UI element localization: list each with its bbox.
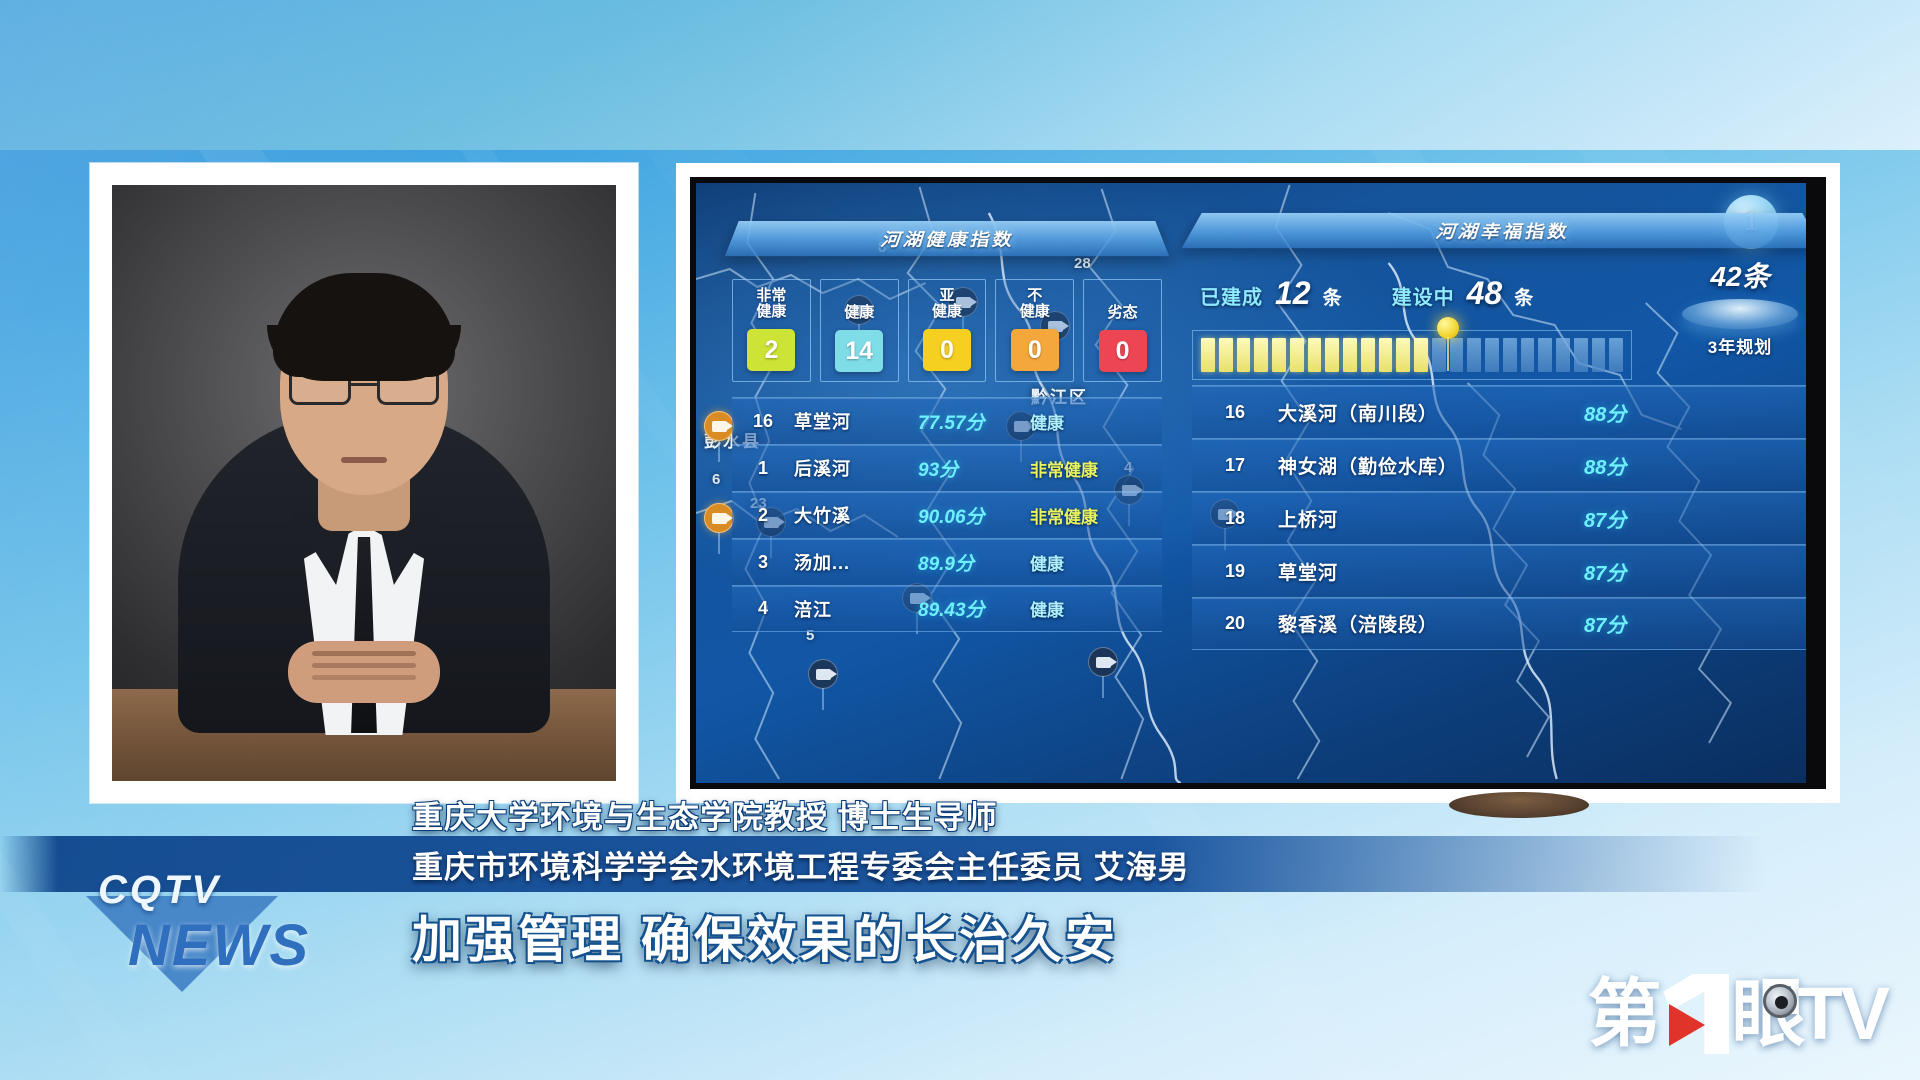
camera-pin-icon[interactable] bbox=[704, 411, 734, 441]
progress-segment bbox=[1361, 338, 1375, 372]
table-row[interactable]: 16 草堂河 77.57分 健康 bbox=[732, 397, 1162, 444]
health-card-value: 14 bbox=[835, 330, 883, 372]
row-status: 健康 bbox=[1030, 550, 1162, 575]
progress-segment bbox=[1254, 338, 1268, 372]
row-status: 健康 bbox=[1030, 596, 1162, 621]
play-triangle-icon bbox=[1669, 1004, 1705, 1046]
diyiyan-tv-watermark: 第 眼 TV bbox=[1587, 968, 1888, 1060]
monitor-bezel: 黔江区 彭水县 8 3 28 23 6 4 5 bbox=[690, 177, 1826, 789]
row-name: 黎香溪（涪陵段） bbox=[1278, 610, 1584, 637]
plan-value: 42条 bbox=[1676, 255, 1804, 295]
health-index-title: 河湖健康指数 bbox=[879, 226, 1014, 251]
row-score: 88分 bbox=[1584, 451, 1806, 480]
health-card-value: 0 bbox=[1011, 329, 1059, 371]
headline-banner: 加强管理 确保效果的长治久安 bbox=[412, 900, 1118, 972]
progress-segment bbox=[1290, 338, 1304, 372]
data-wall-screen: 黔江区 彭水县 8 3 28 23 6 4 5 bbox=[696, 183, 1806, 783]
progress-segment bbox=[1503, 338, 1517, 372]
headline-text: 加强管理 确保效果的长治久安 bbox=[412, 912, 1118, 968]
health-card-very-healthy[interactable]: 非常 健康 2 bbox=[732, 279, 811, 382]
cqtv-news-logo: CQTV NEWS bbox=[44, 850, 344, 1020]
plan-label: 3年规划 bbox=[1676, 333, 1804, 358]
monitor-frame: 黔江区 彭水县 8 3 28 23 6 4 5 bbox=[676, 163, 1840, 803]
progress-segment bbox=[1432, 338, 1446, 372]
row-score: 89.9分 bbox=[918, 549, 1030, 576]
camera-pin-icon[interactable] bbox=[808, 659, 838, 689]
row-name: 后溪河 bbox=[794, 455, 918, 481]
health-card-label: 亚 健康 bbox=[912, 288, 983, 320]
health-card-label: 不 健康 bbox=[999, 288, 1070, 320]
video-camera-icon bbox=[712, 513, 727, 524]
row-status: 非常健康 bbox=[1030, 456, 1162, 481]
credential-line-1: 重庆大学环境与生态学院教授 博士生导师 bbox=[400, 792, 998, 836]
watermark-numeral-one bbox=[1663, 974, 1729, 1054]
progress-segment bbox=[1414, 338, 1428, 372]
map-number: 6 bbox=[712, 471, 720, 488]
row-name: 草堂河 bbox=[1278, 558, 1584, 585]
health-card-unhealthy[interactable]: 不 健康 0 bbox=[995, 279, 1074, 382]
health-card-value: 0 bbox=[1099, 330, 1147, 372]
construction-progress-bar[interactable] bbox=[1192, 330, 1632, 380]
happiness-index-title: 河湖幸福指数 bbox=[1434, 218, 1569, 243]
row-score: 77.57分 bbox=[918, 408, 1030, 435]
row-rank: 16 bbox=[1192, 402, 1278, 423]
progress-segment bbox=[1538, 338, 1552, 372]
letterbox-top bbox=[0, 0, 1920, 150]
three-year-plan-badge: 42条 3年规划 bbox=[1676, 255, 1804, 358]
row-rank: 17 bbox=[1192, 455, 1278, 476]
progress-segment bbox=[1379, 338, 1393, 372]
row-name: 上桥河 bbox=[1278, 505, 1584, 532]
watermark-tv-text: TV bbox=[1797, 977, 1888, 1051]
happiness-ranking-table: 16 大溪河（南川段） 88分 17 神女湖（勤俭水库） 88分 18 上桥河 … bbox=[1192, 385, 1806, 650]
row-rank: 19 bbox=[1192, 561, 1278, 582]
progress-segment bbox=[1574, 338, 1588, 372]
progress-segment bbox=[1396, 338, 1410, 372]
table-row[interactable]: 20 黎香溪（涪陵段） 87分 bbox=[1192, 597, 1806, 650]
row-score: 89.43分 bbox=[918, 595, 1030, 622]
row-score: 93分 bbox=[918, 455, 1030, 482]
row-name: 草堂河 bbox=[794, 408, 918, 434]
camera-pin-icon[interactable] bbox=[1088, 647, 1118, 677]
video-camera-icon bbox=[1096, 657, 1111, 668]
watermark-char-di: 第 bbox=[1587, 977, 1661, 1051]
anchor-portrait-frame bbox=[90, 163, 638, 803]
row-score: 87分 bbox=[1584, 557, 1806, 586]
logo-news-text: NEWS bbox=[128, 912, 310, 979]
row-name: 大溪河（南川段） bbox=[1278, 399, 1584, 426]
progress-segment bbox=[1201, 338, 1215, 372]
happiness-index-title-bar: 河湖幸福指数 bbox=[1182, 213, 1806, 248]
progress-segment bbox=[1556, 338, 1570, 372]
video-camera-icon bbox=[712, 421, 727, 432]
built-label: 已建成 bbox=[1200, 281, 1263, 310]
progress-segment bbox=[1521, 338, 1535, 372]
building-label: 建设中 bbox=[1392, 281, 1455, 310]
anchor-portrait bbox=[112, 185, 616, 781]
health-card-value: 0 bbox=[923, 329, 971, 371]
progress-segment bbox=[1592, 338, 1606, 372]
row-rank: 4 bbox=[732, 598, 794, 619]
glasses-bridge bbox=[351, 383, 377, 386]
progress-segment bbox=[1272, 338, 1286, 372]
building-value: 48 bbox=[1467, 275, 1503, 312]
video-camera-icon bbox=[816, 669, 831, 680]
table-row[interactable]: 16 大溪河（南川段） 88分 bbox=[1192, 385, 1806, 438]
built-unit: 条 bbox=[1323, 283, 1342, 310]
health-card-degraded[interactable]: 劣态 0 bbox=[1083, 279, 1162, 382]
health-card-label: 劣态 bbox=[1087, 288, 1158, 321]
progress-segment bbox=[1237, 338, 1251, 372]
row-score: 90.06分 bbox=[918, 502, 1030, 529]
progress-segment bbox=[1219, 338, 1233, 372]
credential-line-1-text: 重庆大学环境与生态学院教授 博士生导师 bbox=[412, 792, 998, 837]
table-row[interactable]: 17 神女湖（勤俭水库） 88分 bbox=[1192, 438, 1806, 491]
progress-segment bbox=[1308, 338, 1322, 372]
building-unit: 条 bbox=[1514, 283, 1533, 310]
table-row[interactable]: 4 涪江 89.43分 健康 bbox=[732, 585, 1162, 632]
built-value: 12 bbox=[1275, 275, 1311, 312]
health-index-panel: 河湖健康指数 非常 健康 2 bbox=[732, 219, 1162, 382]
progress-segment bbox=[1325, 338, 1339, 372]
health-card-healthy[interactable]: 健康 14 bbox=[820, 279, 899, 382]
row-name: 神女湖（勤俭水库） bbox=[1278, 452, 1584, 479]
health-card-label: 健康 bbox=[824, 288, 895, 321]
row-score: 87分 bbox=[1584, 609, 1806, 638]
hair bbox=[273, 273, 455, 377]
progress-segment bbox=[1450, 338, 1464, 372]
mouth bbox=[341, 457, 387, 463]
row-name: 涪江 bbox=[794, 596, 918, 622]
health-card-label: 非常 健康 bbox=[736, 288, 807, 320]
row-rank: 3 bbox=[732, 552, 794, 573]
happiness-index-panel: 河湖幸福指数 已建成 12 条 建设中 48 条 bbox=[1192, 211, 1806, 380]
broadcast-frame: 黔江区 彭水县 8 3 28 23 6 4 5 bbox=[0, 0, 1920, 1080]
table-row[interactable]: 18 上桥河 87分 bbox=[1192, 491, 1806, 544]
health-index-title-bar: 河湖健康指数 bbox=[725, 221, 1169, 256]
row-score: 87分 bbox=[1584, 504, 1806, 533]
row-rank: 1 bbox=[732, 458, 794, 479]
progress-marker-handle[interactable] bbox=[1437, 317, 1459, 339]
row-score: 88分 bbox=[1584, 398, 1806, 427]
table-row[interactable]: 3 汤加... 89.9分 健康 bbox=[732, 538, 1162, 585]
table-row[interactable]: 19 草堂河 87分 bbox=[1192, 544, 1806, 597]
credential-line-2-text: 重庆市环境科学学会水环境工程专委会主任委员 艾海男 bbox=[412, 842, 1190, 887]
row-status: 非常健康 bbox=[1030, 503, 1162, 528]
camera-pin-icon[interactable] bbox=[704, 503, 734, 533]
row-rank: 2 bbox=[732, 505, 794, 526]
progress-segment bbox=[1609, 338, 1623, 372]
row-rank: 18 bbox=[1192, 508, 1278, 529]
progress-segment bbox=[1467, 338, 1481, 372]
hands bbox=[288, 641, 440, 703]
letterbox-top-sheen bbox=[0, 0, 1920, 150]
row-name: 大竹溪 bbox=[794, 502, 918, 528]
row-name: 汤加... bbox=[794, 549, 918, 575]
table-row[interactable]: 1 后溪河 93分 非常健康 bbox=[732, 444, 1162, 491]
health-card-value: 2 bbox=[747, 329, 795, 371]
progress-segment bbox=[1485, 338, 1499, 372]
logo-cqtv-text: CQTV bbox=[98, 868, 221, 913]
plan-disc-graphic bbox=[1682, 299, 1798, 329]
health-card-sub-healthy[interactable]: 亚 健康 0 bbox=[908, 279, 987, 382]
progress-segment bbox=[1343, 338, 1357, 372]
row-rank: 20 bbox=[1192, 613, 1278, 634]
health-ranking-table: 16 草堂河 77.57分 健康 1 后溪河 93分 非常健康 2 大竹溪 bbox=[732, 397, 1162, 632]
monitor-stand bbox=[1449, 792, 1589, 818]
row-status: 健康 bbox=[1030, 409, 1162, 434]
row-rank: 16 bbox=[732, 411, 794, 432]
table-row[interactable]: 2 大竹溪 90.06分 非常健康 bbox=[732, 491, 1162, 538]
health-category-cards: 非常 健康 2 健康 14 bbox=[732, 279, 1162, 382]
